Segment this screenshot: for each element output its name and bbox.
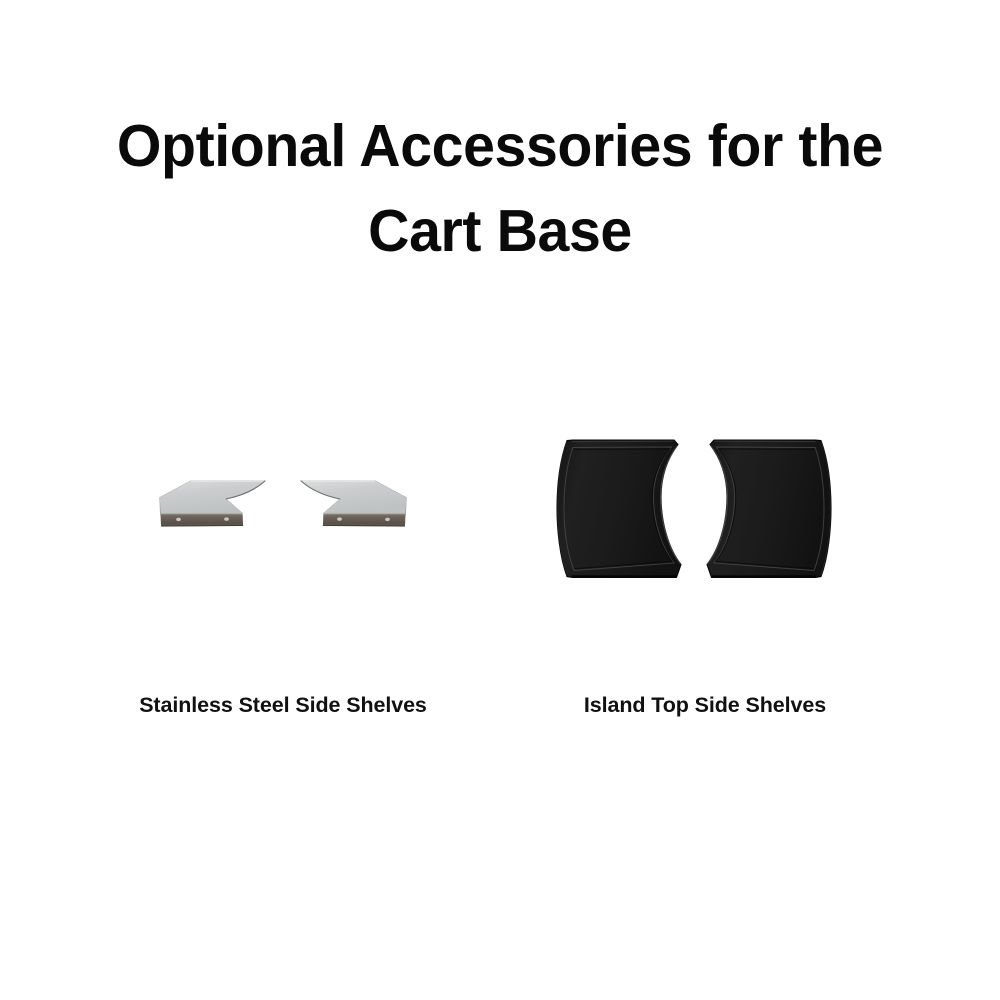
stainless-shelf-right-band-bottom-shadow (323, 525, 405, 526)
product-image-island-top-side-shelves (548, 428, 840, 590)
product-image-stainless-steel-side-shelves (130, 455, 436, 555)
stainless-shelf-left-screw-1 (176, 518, 181, 521)
product-caption-stainless-steel-side-shelves: Stainless Steel Side Shelves (33, 691, 533, 719)
page-title-line-1: Optional Accessories for the (15, 104, 985, 189)
stainless-shelf-left-screw-2 (224, 517, 229, 520)
stainless-shelf-left-front-edge-band (161, 513, 244, 526)
product-caption-island-top-side-shelves: Island Top Side Shelves (505, 691, 905, 719)
page-title: Optional Accessories for the Cart Base (0, 104, 1000, 274)
stainless-shelf-right-screw-2 (337, 517, 342, 520)
island-shelf-left-piece (557, 440, 681, 578)
stainless-shelf-right-screw-1 (385, 518, 390, 521)
stainless-shelf-left-top-surface (160, 481, 266, 514)
page-title-line-2: Cart Base (15, 189, 985, 274)
stainless-shelf-right-piece (301, 481, 407, 527)
accessories-page: Optional Accessories for the Cart Base (0, 0, 1000, 1000)
island-shelf-right-piece (707, 440, 831, 578)
stainless-shelf-right-front-edge-band (323, 513, 406, 526)
stainless-shelf-right-top-surface (301, 481, 407, 514)
stainless-shelf-left-band-bottom-shadow (161, 525, 243, 526)
stainless-shelf-left-piece (160, 481, 266, 527)
